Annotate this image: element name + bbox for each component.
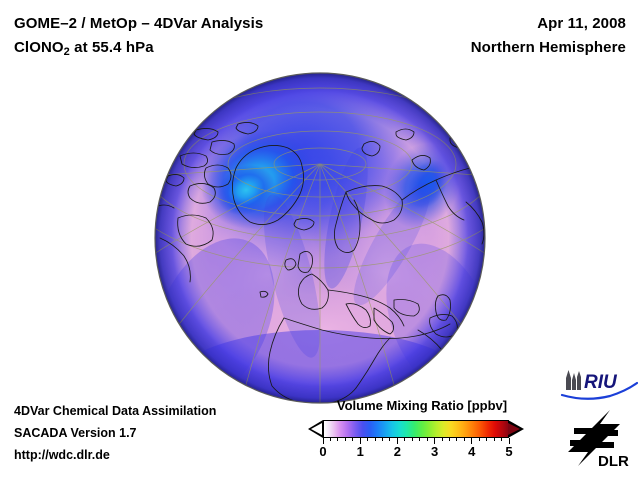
riu-tower-icon [566,370,581,390]
colorbar-tick-label: 1 [357,444,364,460]
colorbar-tick-minor [427,438,428,441]
colorbar: Volume Mixing Ratio [ppbv] 012345 [305,398,545,440]
globe-map [150,68,490,408]
colorbar-tick-minor [464,438,465,441]
footer-left: 4DVar Chemical Data Assimilation SACADA … [14,400,314,466]
colorbar-tick-labels: 012345 [323,444,509,462]
riu-wordmark: RIU [584,372,618,393]
colorbar-tick-minor [382,438,383,441]
species-level: at 55.4 hPa [70,39,154,56]
colorbar-tick-minor [501,438,502,441]
colorbar-tick-minor [442,438,443,441]
colorbar-tick-minor [389,438,390,441]
colorbar-tick-minor [456,438,457,441]
species-name: ClONO [14,39,64,56]
footer-line-url[interactable]: http://wdc.dlr.de [14,444,314,466]
colorbar-tick-minor [479,438,480,441]
colorbar-tick-minor [412,438,413,441]
footer-line-method: 4DVar Chemical Data Assimilation [14,400,314,422]
colorbar-tick-minor [337,438,338,441]
colorbar-tick-minor [367,438,368,441]
limb-shading [155,73,485,403]
colorbar-tick-minor [494,438,495,441]
colorbar-tick-label: 4 [468,444,475,460]
region-label: Northern Hemisphere [326,36,626,60]
footer-line-version: SACADA Version 1.7 [14,422,314,444]
colorbar-title: Volume Mixing Ratio [ppbv] [307,398,537,414]
colorbar-tick-minor [330,438,331,441]
colorbar-tick-label: 3 [431,444,438,460]
globe-field [150,68,490,408]
colorbar-tick-minor [352,438,353,441]
colorbar-tick-label: 0 [319,444,326,460]
colorbar-tick-label: 5 [505,444,512,460]
colorbar-tick-minor [449,438,450,441]
colorbar-tick-minor [404,438,405,441]
colorbar-tick-minor [419,438,420,441]
header-right: Apr 11, 2008 Northern Hemisphere [326,12,626,60]
colorbar-tick-minor [375,438,376,441]
colorbar-tick-minor [345,438,346,441]
colorbar-overflow-arrow-fill [508,423,520,435]
date-label: Apr 11, 2008 [326,12,626,36]
colorbar-underflow-arrow-fill [311,423,322,435]
colorbar-row: 012345 [305,418,545,440]
riu-logo: RIU [560,368,638,400]
colorbar-gradient [323,420,509,438]
dlr-logo: DLR [566,408,636,470]
colorbar-tick-minor [486,438,487,441]
dlr-wordmark: DLR [598,453,629,470]
colorbar-tick-label: 2 [394,444,401,460]
